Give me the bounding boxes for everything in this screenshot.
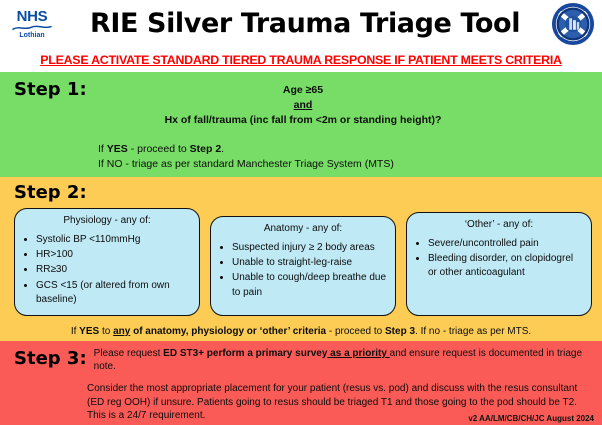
step-3-para1-bold: ED ST3+ perform a primary survey	[163, 348, 327, 359]
criteria-box-other-title: ‘Other’ - any of:	[414, 219, 584, 230]
step-1-outcome-no: If NO - triage as per standard Mancheste…	[98, 157, 592, 173]
activation-alert-text: PLEASE ACTIVATE STANDARD TIERED TRAUMA R…	[40, 53, 561, 67]
step-2-footer-step3: Step 3	[385, 326, 415, 337]
list-item: Unable to cough/deep breathe due to pain	[232, 271, 388, 299]
document-version-footer: v2 AA/LM/CB/CH/JC August 2024	[468, 414, 594, 423]
activation-alert-banner: PLEASE ACTIVATE STANDARD TIERED TRAUMA R…	[0, 47, 602, 72]
list-item: HR>100	[36, 248, 192, 262]
list-item: Systolic BP <110mmHg	[36, 233, 192, 247]
step-2-criteria-boxes: Physiology - any of: Systolic BP <110mmH…	[14, 181, 592, 316]
step-2-footer-suffix: . If no - triage as per MTS.	[415, 326, 531, 337]
step-2-section: Step 2: Physiology - any of: Systolic BP…	[0, 177, 602, 341]
step-3-top-row: Step 3: Please request ED ST3+ perform a…	[14, 347, 594, 373]
step-1-yes-target: Step 2	[190, 143, 222, 155]
list-item: Severe/uncontrolled pain	[428, 237, 584, 251]
list-item: GCS <15 (or altered from own baseline)	[36, 279, 192, 307]
step-2-footer-criteria: of anatomy, physiology or ‘other’ criter…	[130, 326, 326, 337]
step-3-primary-instruction: Please request ED ST3+ perform a primary…	[94, 347, 594, 373]
criteria-box-anatomy-title: Anatomy - any of:	[218, 223, 388, 234]
step-2-footer-to: to	[99, 326, 113, 337]
step-1-criteria: Age ≥65 and Hx of fall/trauma (inc fall …	[14, 78, 592, 129]
list-item: Bleeding disorder, on clopidogrel or oth…	[428, 252, 584, 280]
list-item: Suspected injury ≥ 2 body areas	[232, 241, 388, 255]
step-3-para1-prefix: Please request	[94, 348, 164, 359]
step-2-outcome: If YES to any of anatomy, physiology or …	[0, 326, 602, 337]
step-2-footer-yes: YES	[79, 326, 99, 337]
step-1-and-connector: and	[294, 99, 313, 111]
nhs-logo-word: NHS	[17, 9, 48, 24]
nhs-lothian-logo: NHS Lothian	[4, 9, 60, 39]
step-2-footer-any: any	[113, 326, 130, 337]
list-item: Unable to straight-leg-raise	[232, 256, 388, 270]
step-1-yes-keyword: YES	[107, 143, 128, 155]
step-2-label: Step 2:	[14, 182, 87, 203]
step-1-yes-mid: - proceed to	[128, 143, 190, 155]
criteria-box-physiology-title: Physiology - any of:	[22, 215, 192, 226]
step-1-age-criterion: Age ≥65	[14, 83, 592, 98]
nhs-logo-trust: Lothian	[19, 32, 44, 39]
criteria-box-physiology: Physiology - any of: Systolic BP <110mmH…	[14, 208, 200, 316]
step-1-label: Step 1:	[14, 79, 87, 100]
criteria-box-other: ‘Other’ - any of: Severe/uncontrolled pa…	[406, 212, 592, 316]
document-header: NHS Lothian RIE Silver Trauma Triage Too…	[0, 0, 602, 47]
step-3-label: Step 3:	[14, 347, 87, 369]
page-title: RIE Silver Trauma Triage Tool	[60, 8, 550, 39]
criteria-box-other-list: Severe/uncontrolled pain Bleeding disord…	[414, 237, 584, 281]
step-1-yes-suffix: .	[221, 143, 224, 155]
criteria-box-anatomy-list: Suspected injury ≥ 2 body areas Unable t…	[218, 241, 388, 300]
criteria-box-physiology-list: Systolic BP <110mmHg HR>100 RR≥30 GCS <1…	[22, 233, 192, 307]
step-2-footer-prefix: If	[71, 326, 79, 337]
step-1-outcomes: If YES - proceed to Step 2. If NO - tria…	[14, 142, 592, 174]
step-3-para1-priority: as a priority	[327, 348, 389, 359]
step-1-history-criterion: Hx of fall/trauma (inc fall from <2m or …	[14, 113, 592, 128]
medic-one-crest-icon	[550, 2, 596, 46]
criteria-box-anatomy: Anatomy - any of: Suspected injury ≥ 2 b…	[210, 216, 396, 316]
triage-tool-document: NHS Lothian RIE Silver Trauma Triage Too…	[0, 0, 602, 425]
step-2-footer-mid: - proceed to	[326, 326, 385, 337]
step-1-section: Step 1: Age ≥65 and Hx of fall/trauma (i…	[0, 72, 602, 177]
step-1-yes-prefix: If	[98, 143, 107, 155]
nhs-wave-icon	[12, 25, 52, 31]
step-3-section: Step 3: Please request ED ST3+ perform a…	[0, 341, 602, 425]
list-item: RR≥30	[36, 263, 192, 277]
step-1-outcome-yes: If YES - proceed to Step 2.	[98, 142, 592, 158]
